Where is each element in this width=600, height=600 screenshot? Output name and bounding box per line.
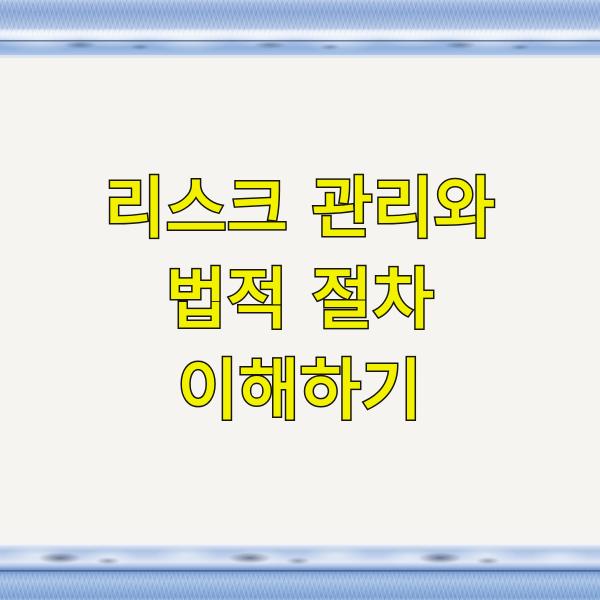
bottom-band-soft-edge xyxy=(0,541,600,544)
bottom-band-divider-line xyxy=(0,570,600,572)
thumbnail-canvas: 리스크 관리와 법적 절차 이해하기 xyxy=(0,0,600,600)
headline-block: 리스크 관리와 법적 절차 이해하기 xyxy=(0,58,600,541)
top-decorative-band xyxy=(0,0,600,58)
headline-line-3: 이해하기 xyxy=(178,355,423,426)
bottom-decorative-band xyxy=(0,541,600,600)
headline-line-2: 법적 절차 xyxy=(166,264,434,335)
top-band-divider-line xyxy=(0,40,600,42)
top-band-dark-spots xyxy=(0,0,600,58)
headline-line-1: 리스크 관리와 xyxy=(105,173,496,244)
